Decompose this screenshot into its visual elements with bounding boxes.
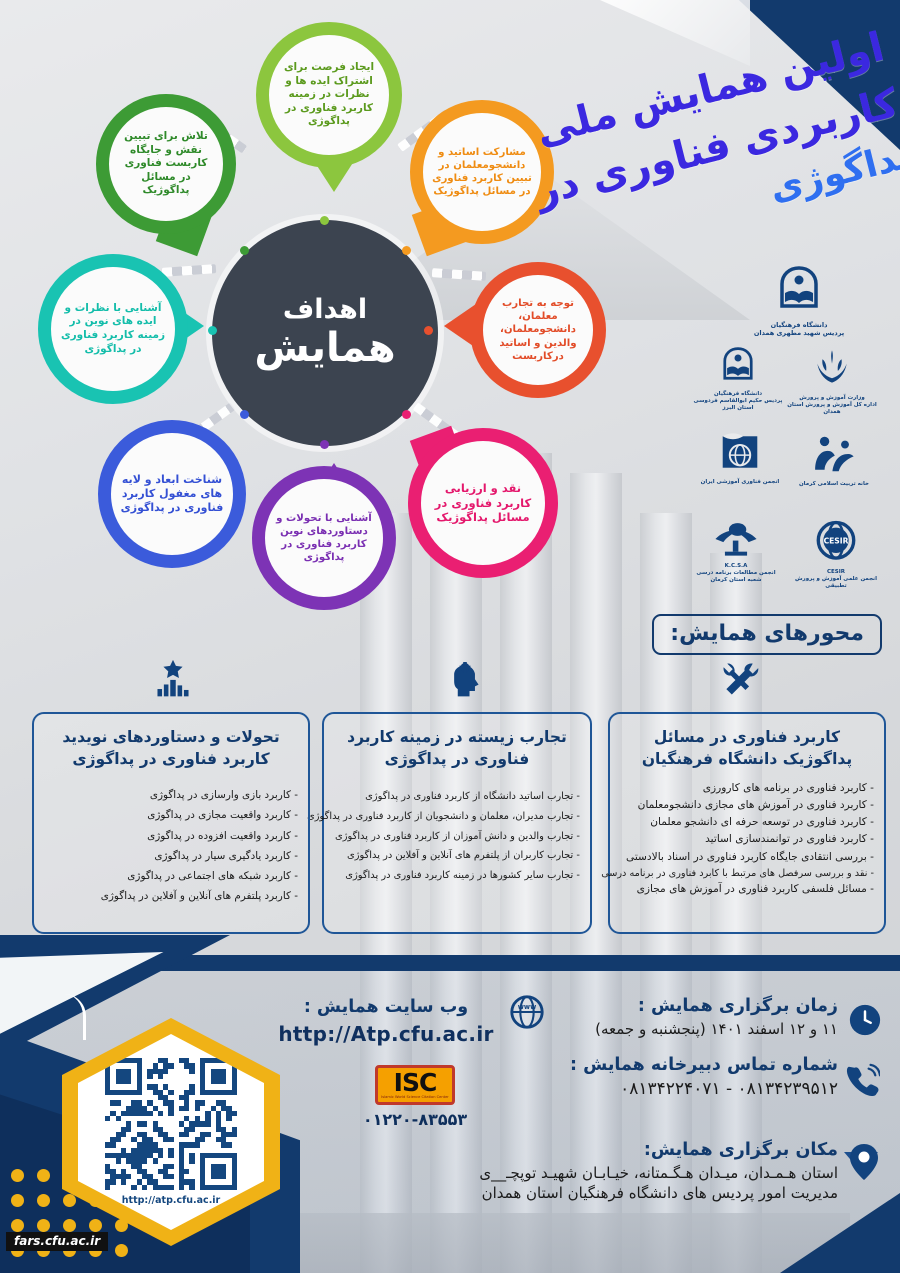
star-chart-icon [152,658,194,704]
website-block: وب سایت همایش : http://Atp.cfu.ac.ir [272,997,500,1046]
theme-list-0: - کاربرد فناوری در برنامه های کارورزی - … [620,780,874,899]
theme-item: - بررسی انتقادی جایگاه کاربرد فناوری در … [620,849,874,866]
date-value: ۱۱ و ۱۲ اسفند ۱۴۰۱ (پنجشنبه و جمعه) [538,1020,838,1038]
hub-node-right [424,326,433,335]
globe-book-logo-icon [716,430,764,474]
theme-list-1: - تجارب اساتید دانشگاه از کاربرد فناوری … [334,787,580,886]
theme-item: - کاربرد شبکه های اجتماعی در پداگوژی [44,866,298,886]
hub-node-top-left [240,246,249,255]
theme-title-2: تحولات و دستاوردهای نویدید کاربرد فناوری… [44,726,298,771]
website-label: وب سایت همایش : [272,997,500,1017]
watermark: fars.cfu.ac.ir [6,1232,108,1251]
www-globe-icon: www [508,993,546,1035]
objective-bubble-7: آشنایی با نظرات و ایده های نوین در زمینه… [38,254,188,404]
brain-gear-icon [445,662,485,704]
theme-item: - کاربرد واقعیت افزوده در پداگوژی [44,826,298,846]
theme-item: - تجارب اساتید دانشگاه از کاربرد فناوری … [334,787,580,807]
isc-title: ISC [394,1071,437,1095]
place-line1: استان هـمـدان، میـدان هـگـمتانه، خیـابـا… [408,1164,838,1182]
hub-node-top [320,216,329,225]
logo-caption-0: دانشگاه فرهنگیان پردیس شهید مطهری همدان [744,321,854,337]
theme-item: - کاربرد فناوری در توسعه حرفه ای دانشجو … [620,814,874,831]
conference-poster: اولین همایش ملی کاربردی فناوری در پداگوژ… [0,0,900,1273]
theme-item: - کاربرد بازی وارسازی در پداگوژی [44,785,298,805]
theme-item: - کاربرد واقعیت مجازی در پداگوژی [44,805,298,825]
theme-item: - تجارب مدیران، معلمان و دانشجویان از کا… [334,807,580,827]
qr-caption: http://atp.cfu.ac.ir [122,1195,220,1206]
watermark-text: fars.cfu.ac.ir [14,1234,100,1248]
svg-text:www: www [518,1003,536,1011]
sponsor-logos: دانشگاه فرهنگیان پردیس شهید مطهری همدان … [684,262,882,602]
theme-item: - تجارب کاربران از پلتفرم های آنلاین و آ… [334,846,580,866]
isc-badge: ISC Islamic World Science Citation Cente… [375,1065,455,1105]
place-line2: مدیریت امور پردیس های دانشگاه فرهنگیان ا… [408,1184,838,1202]
location-pin-icon [848,1143,880,1185]
kcsa-logo-icon [710,520,762,558]
objective-text-6: شناخت ابعاد و لایه های مغفول کاربرد فناو… [120,473,224,516]
objective-text-7: آشنایی با نظرات و ایده های نوین در زمینه… [60,302,166,357]
hub-node-top-right [402,246,411,255]
qr-stem [30,994,86,1040]
logo-caption-3: انجمن فناوری آموزشی ایران [692,479,788,486]
theme-item: - کاربرد فناوری در توانمندسازی اساتید [620,831,874,848]
objective-text-5: آشنایی با تحولات و دستاوردهای نوین کاربر… [274,512,374,565]
logo-ministry-education: وزارت آموزش و پرورش اداره کل آموزش و پرو… [784,346,880,416]
logo-caption-2: وزارت آموزش و پرورش اداره کل آموزش و پرو… [784,395,880,416]
objective-bubble-0: ایجاد فرصت برای اشتراک ایده ها و نظرات د… [256,22,402,168]
website-url[interactable]: http://Atp.cfu.ac.ir [272,1022,500,1046]
phone-block: شماره تماس دبیرخانه همایش : ۰۸۱۳۴۲۳۹۵۱۲ … [518,1055,838,1099]
isc-subtitle: Islamic World Science Citation Center [381,1095,449,1099]
place-label: مکان برگزاری همایش: [408,1140,838,1160]
objective-bubble-5: آشنایی با تحولات و دستاوردهای نوین کاربر… [252,466,396,610]
svg-text:CESIR: CESIR [824,537,849,546]
theme-card-2: تحولات و دستاوردهای نویدید کاربرد فناوری… [32,712,310,934]
theme-item: - نقد و بررسی سرفصل های مرتبط با کابرد ف… [620,866,874,882]
place-block: مکان برگزاری همایش: استان هـمـدان، میـدا… [408,1140,838,1202]
logo-caption-1: دانشگاه فرهنگیان پردیس حکیم ابوالقاسم فر… [690,391,786,412]
phone-icon [846,1063,880,1101]
theme-list-2: - کاربرد بازی وارسازی در پداگوژی - کاربر… [44,785,298,907]
hub-title-line2: همایش [254,325,395,371]
logo-farhangian-alborz: دانشگاه فرهنگیان پردیس حکیم ابوالقاسم فر… [690,344,786,412]
theme-item: - کاربرد فناوری در آموزش های مجازی دانشج… [620,797,874,814]
logo-caption-5: K.C.S.A انجمن مطالعات برنامه درسی شعبه ا… [688,563,784,584]
hub-node-bottom-left [240,410,249,419]
connector [162,264,216,277]
theme-item: - کاربرد فناوری در برنامه های کارورزی [620,780,874,797]
theme-item: - تجارب والدین و دانش آموزان از کاربرد ف… [334,827,580,847]
qr-code-image[interactable] [105,1058,237,1190]
logo-caption-6: CESIR انجمن علمی آموزش و پرورش تطبیقی [790,569,882,590]
themes-header: محورهای همایش: [652,614,882,655]
themes-header-label: محورهای همایش: [670,621,864,646]
logo-cesir: CESIR CESIR انجمن علمی آموزش و پرورش تطب… [790,520,882,590]
logo-tarbiat-eslami-kerman: خانه تربیت اسلامی کرمان [788,432,880,488]
people-logo-icon [808,432,860,476]
connector [432,268,486,281]
hub-node-left [208,326,217,335]
phone-value: ۰۸۱۳۴۲۳۹۵۱۲ - ۰۸۱۳۴۲۲۴۰۷۱ [518,1079,838,1099]
objective-bubble-1: تلاش برای تبیین نقش و جایگاه کاربست فناو… [96,94,236,234]
theme-card-1: تجارب زیسته در زمینه کاربرد فناوری در پد… [322,712,592,934]
objective-text-0: ایجاد فرصت برای اشتراک ایده ها و نظرات د… [278,61,380,129]
logo-educational-technology-assoc: انجمن فناوری آموزشی ایران [692,430,788,486]
clock-icon [848,1003,882,1041]
phone-label: شماره تماس دبیرخانه همایش : [518,1055,838,1075]
iran-emblem-icon [810,346,854,390]
tools-icon [718,660,762,704]
objective-bubble-6: شناخت ابعاد و لایه های مغفول کاربرد فناو… [98,420,246,568]
theme-item: - تجارب سایر کشورها در زمینه کاربرد فناو… [334,866,580,886]
theme-title-1: تجارب زیسته در زمینه کاربرد فناوری در پد… [334,726,580,771]
theme-item: - کاربرد پلتفرم های آنلاین و آفلاین در پ… [44,886,298,906]
theme-item: - مسائل فلسفی کاربرد فناوری در آموزش های… [620,881,874,898]
cesir-logo-icon: CESIR [809,520,863,564]
isc-code: ۰۱۲۲۰-۸۳۵۵۳ [355,1110,475,1129]
theme-card-0: کاربرد فناوری در مسائل پداگوژیک دانشگاه … [608,712,886,934]
objective-bubble-4: نقد و ارزیابی کاربرد فناوری در مسائل پدا… [408,428,558,578]
objective-text-4: نقد و ارزیابی کاربرد فناوری در مسائل پدا… [430,481,536,526]
theme-item: - کاربرد یادگیری سیار در پداگوژی [44,846,298,866]
date-label: زمان برگزاری همایش : [538,996,838,1016]
logo-caption-4: خانه تربیت اسلامی کرمان [788,481,880,488]
date-block: زمان برگزاری همایش : ۱۱ و ۱۲ اسفند ۱۴۰۱ … [538,996,838,1038]
hub-title-line1: اهداف [283,295,367,325]
logo-kcsa: K.C.S.A انجمن مطالعات برنامه درسی شعبه ا… [688,520,784,584]
objective-text-1: تلاش برای تبیین نقش و جایگاه کاربست فناو… [118,130,214,198]
hub-node-bottom-right [402,410,411,419]
theme-title-0: کاربرد فناوری در مسائل پداگوژیک دانشگاه … [620,726,874,771]
farhangian-alborz-logo-icon [717,344,759,386]
hub-node-bottom [320,440,329,449]
